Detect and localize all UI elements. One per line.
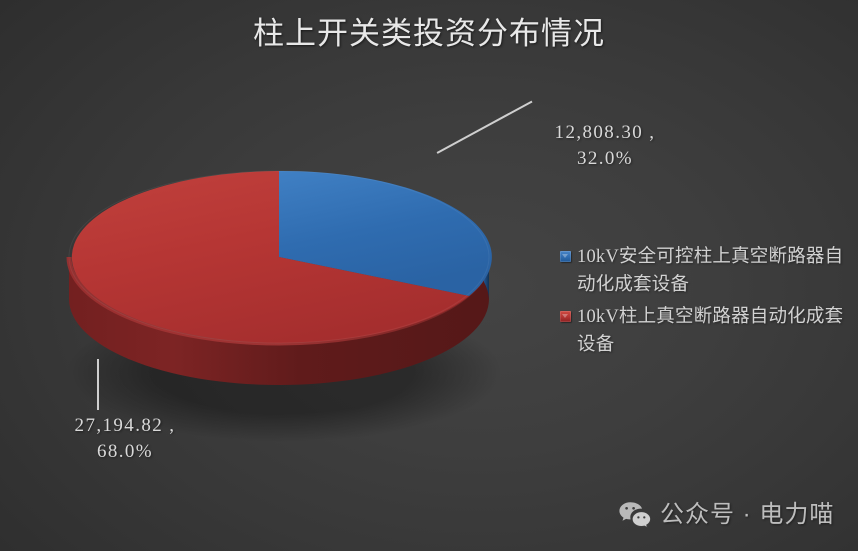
- leader-line-red: [97, 359, 99, 410]
- watermark: 公众号 · 电力喵: [618, 500, 834, 530]
- pie-chart-svg: [60, 150, 520, 410]
- data-label-red-percent: 68.0%: [20, 439, 230, 465]
- watermark-text: 公众号 · 电力喵: [660, 500, 834, 530]
- data-label-blue-value: 12,808.30 ,: [505, 120, 705, 146]
- data-label-red: 27,194.82 , 68.0%: [20, 413, 230, 465]
- data-label-blue: 12,808.30 , 32.0%: [505, 120, 705, 172]
- chart-legend: 10kV安全可控柱上真空断路器自动化成套设备 10kV柱上真空断路器自动化成套设…: [560, 243, 850, 363]
- wechat-icon: [618, 500, 652, 530]
- pie-chart: [60, 150, 520, 410]
- data-label-blue-percent: 32.0%: [505, 146, 705, 172]
- legend-swatch-blue-icon: [560, 251, 571, 262]
- legend-label-red: 10kV柱上真空断路器自动化成套设备: [577, 303, 850, 359]
- legend-swatch-red-icon: [560, 311, 571, 322]
- legend-item-blue[interactable]: 10kV安全可控柱上真空断路器自动化成套设备: [560, 243, 850, 299]
- data-label-red-value: 27,194.82 ,: [20, 413, 230, 439]
- legend-label-blue: 10kV安全可控柱上真空断路器自动化成套设备: [577, 243, 850, 299]
- pie-chart-slide: 柱上开关类投资分布情况: [0, 0, 858, 551]
- page-title: 柱上开关类投资分布情况: [0, 14, 858, 54]
- legend-item-red[interactable]: 10kV柱上真空断路器自动化成套设备: [560, 303, 850, 359]
